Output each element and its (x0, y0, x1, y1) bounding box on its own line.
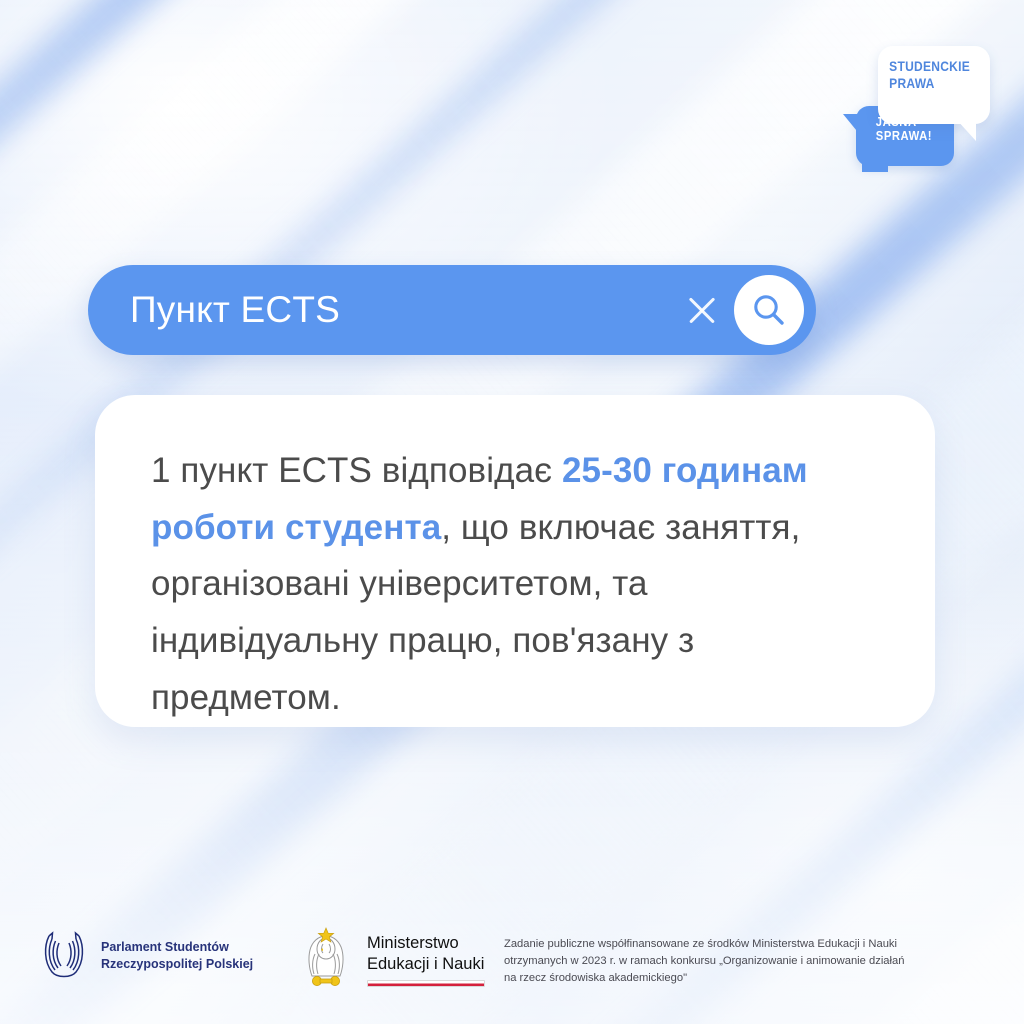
polish-flag-bar (367, 980, 485, 987)
psrp-name: Parlament Studentów Rzeczypospolitej Pol… (101, 939, 253, 973)
answer-card: 1 пункт ECTS відповідає 25-30 годинам ро… (95, 395, 935, 727)
answer-text: 1 пункт ECTS відповідає 25-30 годинам ро… (95, 395, 935, 726)
footer: Parlament Studentów Rzeczypospolitej Pol… (0, 914, 1024, 1024)
ministry-logo: Ministerstwo Edukacji i Nauki (295, 924, 485, 994)
funding-note: Zadanie publiczne współfinansowane ze śr… (504, 936, 1004, 987)
psrp-logo: Parlament Studentów Rzeczypospolitej Pol… (38, 928, 253, 984)
magnifier-icon (750, 291, 788, 329)
psrp-wings-icon (38, 928, 90, 984)
polish-eagle-icon (295, 924, 357, 994)
speech-bubble-blue: JASNA SPRAWA! (856, 106, 954, 166)
search-input[interactable]: Пункт ECTS (88, 289, 676, 331)
brand-tagline: JASNA SPRAWA! (856, 106, 944, 143)
answer-segment-plain-1: 1 пункт ECTS відповідає (151, 451, 562, 490)
search-button[interactable] (734, 275, 804, 345)
brand-name: STUDENCKIE PRAWA (878, 46, 974, 92)
ministry-text-block: Ministerstwo Edukacji i Nauki (367, 931, 485, 987)
search-bar[interactable]: Пункт ECTS (88, 265, 816, 355)
close-x-icon[interactable] (676, 284, 728, 336)
poster-canvas: JASNA SPRAWA! STUDENCKIE PRAWA Пункт ECT… (0, 0, 1024, 1024)
brand-logo: JASNA SPRAWA! STUDENCKIE PRAWA (856, 46, 990, 186)
ministry-name: Ministerstwo Edukacji i Nauki (367, 933, 485, 975)
